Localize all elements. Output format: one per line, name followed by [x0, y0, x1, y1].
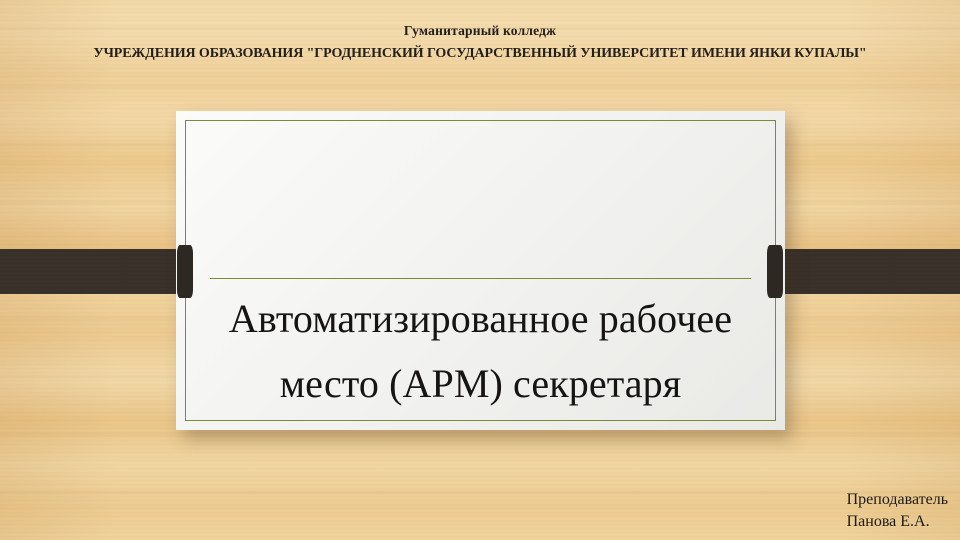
institution-parent-name: УЧРЕЖДЕНИЯ ОБРАЗОВАНИЯ "ГРОДНЕНСКИЙ ГОСУ… — [0, 47, 960, 61]
title-divider-rule — [210, 278, 751, 279]
title-slide: Гуманитарный колледж УЧРЕЖДЕНИЯ ОБРАЗОВА… — [0, 0, 960, 540]
title-card: Автоматизированное рабочее место (АРМ) с… — [176, 111, 785, 430]
presenter-name: Панова Е.А. — [847, 511, 948, 533]
institution-name: Гуманитарный колледж — [0, 24, 960, 38]
presenter-role: Преподаватель — [847, 489, 948, 511]
ribbon-end-cap-left — [177, 245, 193, 298]
presenter-credit: Преподаватель Панова Е.А. — [847, 489, 948, 533]
slide-title: Автоматизированное рабочее место (АРМ) с… — [170, 287, 791, 417]
slide-header: Гуманитарный колледж УЧРЕЖДЕНИЯ ОБРАЗОВА… — [0, 0, 960, 61]
slide-title-line-1: Автоматизированное рабочее — [170, 287, 791, 352]
slide-title-line-2: место (АРМ) секретаря — [170, 352, 791, 417]
ribbon-end-cap-right — [767, 245, 783, 298]
